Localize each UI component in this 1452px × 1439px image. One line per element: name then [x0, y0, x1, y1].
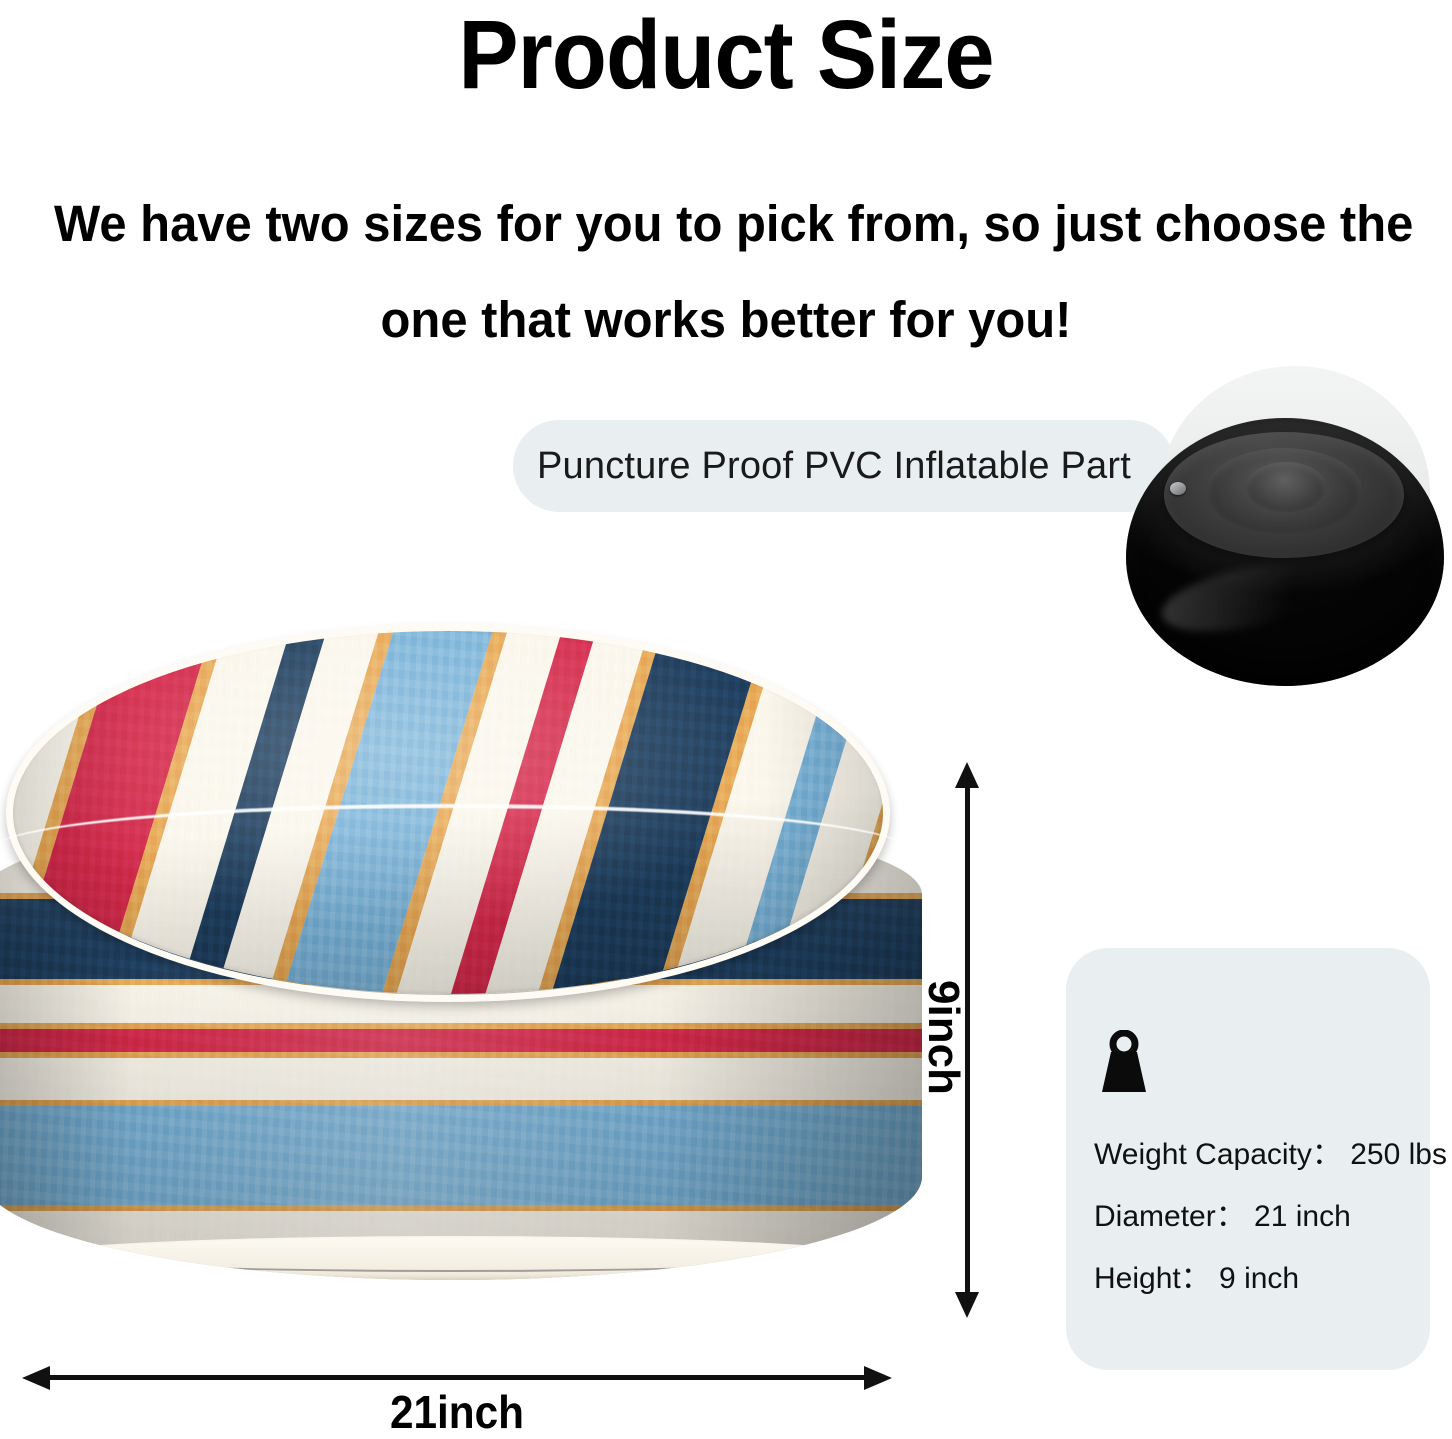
arrow-head-down-icon — [955, 1292, 979, 1318]
weight-icon — [1098, 1030, 1150, 1094]
callout-label: Puncture Proof PVC Inflatable Part — [537, 445, 1131, 488]
puck-gloss — [1156, 550, 1344, 644]
valve-icon — [1170, 482, 1186, 495]
spec-row-height: Height： 9 inch — [1094, 1248, 1424, 1310]
height-dimension-label: 9inch — [918, 980, 968, 1095]
ottoman-top-surface — [10, 628, 886, 994]
page-subtitle: We have two sizes for you to pick from, … — [54, 176, 1398, 368]
specifications-card: Weight Capacity： 250 lbs Diameter： 21 in… — [1066, 948, 1430, 1370]
spec-row-weight-capacity: Weight Capacity： 250 lbs — [1094, 1124, 1424, 1186]
arrow-shaft-horizontal — [38, 1375, 876, 1380]
ottoman-product-image — [0, 628, 934, 1328]
inflatable-part-callout: Puncture Proof PVC Inflatable Part — [513, 420, 1175, 512]
page-title: Product Size — [51, 4, 1401, 106]
pvc-inflatable-part-image — [1118, 366, 1452, 692]
arrow-head-right-icon — [864, 1366, 892, 1390]
subtitle-line-2: one that works better for you! — [54, 272, 1398, 368]
base-contact-line — [48, 1240, 856, 1272]
width-dimension-label: 21inch — [57, 1385, 857, 1439]
spec-row-diameter: Diameter： 21 inch — [1094, 1186, 1424, 1248]
subtitle-line-1: We have two sizes for you to pick from, … — [54, 176, 1398, 272]
puck-top-ring-inner — [1246, 462, 1326, 512]
fabric-texture-top — [10, 628, 886, 994]
product-size-infographic: Product Size We have two sizes for you t… — [0, 0, 1452, 1426]
spec-list: Weight Capacity： 250 lbs Diameter： 21 in… — [1094, 1124, 1424, 1310]
